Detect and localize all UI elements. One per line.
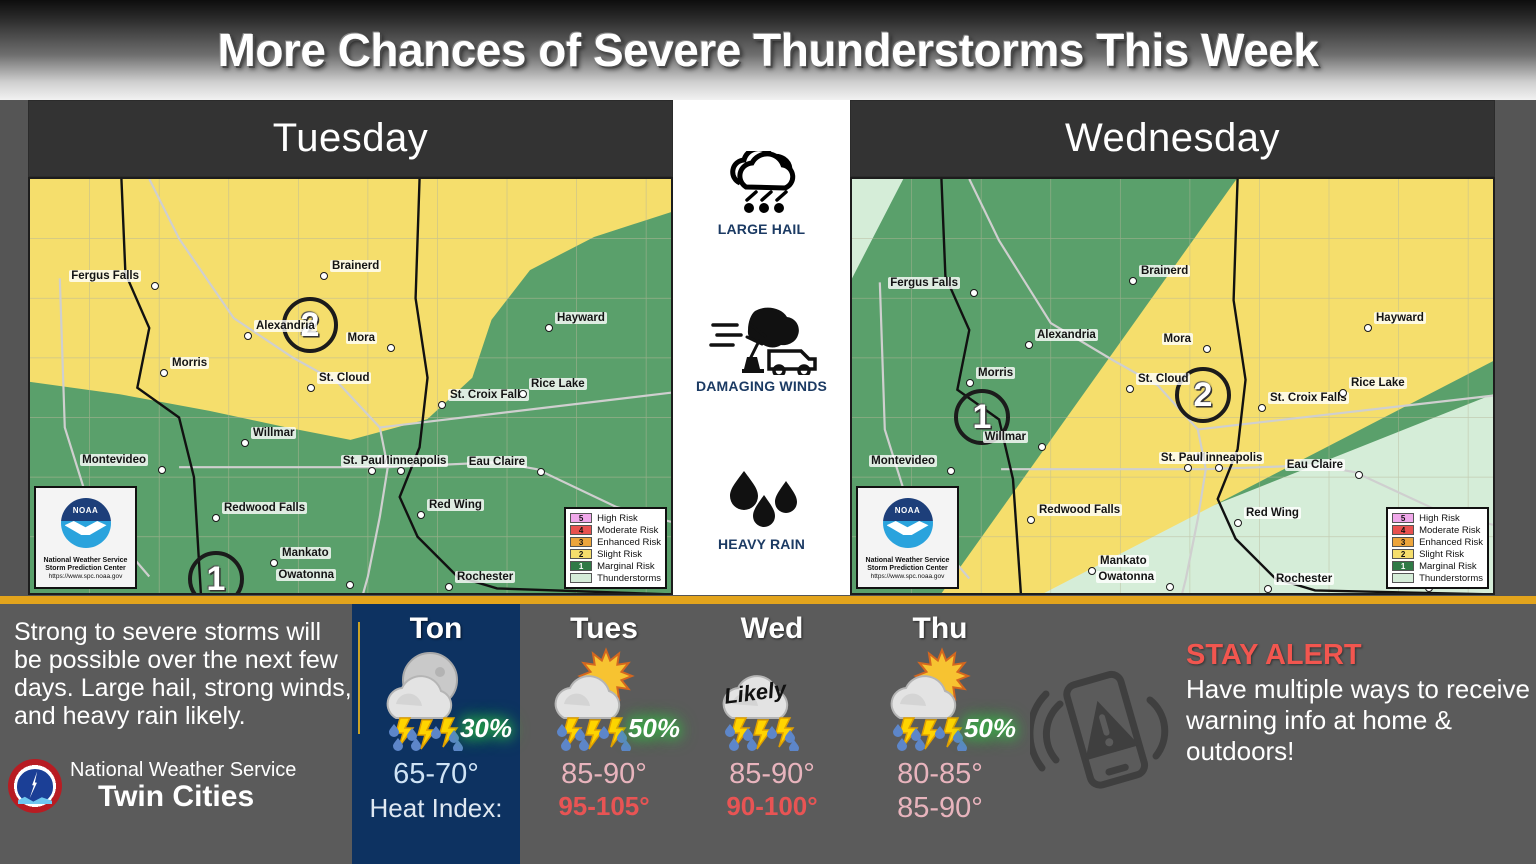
legend-label: Thunderstorms [1419,573,1483,584]
legend-swatch: 2 [570,549,592,559]
legend-swatch: 5 [1392,513,1414,523]
legend-row: 3Enhanced Risk [570,536,661,548]
city-label: Alexandria [254,320,317,332]
forecast-temperature: 65-70° [393,758,479,791]
forecast-temperature: 85-90° [729,758,815,791]
hazard-label: LARGE HAIL [718,221,806,237]
city-dot-icon [970,289,978,297]
legend-swatch: 3 [570,537,592,547]
city-label: St. Croix Falls [1268,392,1349,404]
city-dot-icon [1025,341,1033,349]
legend-label: Marginal Risk [597,561,655,572]
forecast-day-name: Thu [913,614,968,644]
city-label: Eau Claire [467,456,527,468]
narrative-block: Strong to severe storms will be possible… [14,618,354,730]
city-dot-icon [241,439,249,447]
forecast-icon-wrap: 30% [352,646,520,756]
legend-label: Thunderstorms [597,573,661,584]
risk-map-tuesday: 2 1 Fergus FallsBrainerdAlexandriaMoraHa… [28,177,673,595]
noaa-line1: National Weather Service [866,557,950,565]
legend-label: Enhanced Risk [1419,537,1483,548]
city-dot-icon [1339,389,1347,397]
legend-row: 5High Risk [570,512,661,524]
legend-swatch: 2 [1392,549,1414,559]
city-label: Mankato [1098,555,1149,567]
city-label: Montevideo [869,455,937,467]
city-label: Fergus Falls [888,277,960,289]
weather-graphic: More Chances of Severe Thunderstorms Thi… [0,0,1536,864]
city-dot-icon [519,390,527,398]
hazard-heavy-rain: HEAVY RAIN [716,464,808,552]
map-panel-wednesday: Wednesday [850,100,1495,595]
legend-label: Marginal Risk [1419,561,1477,572]
noaa-seal-icon: NOAA [877,492,939,554]
legend-row: 1Marginal Risk [1392,560,1483,572]
city-dot-icon [397,467,405,475]
phone-alert-icon [1030,656,1180,806]
city-label: St. Cloud [317,372,371,384]
legend-swatch [570,573,592,583]
city-label: St. Croix Falls [448,389,529,401]
city-label: Rochester [455,571,515,583]
city-dot-icon [151,282,159,290]
city-dot-icon [1126,385,1134,393]
city-dot-icon [438,401,446,409]
hail-cloud-icon [716,149,808,217]
city-label: Eau Claire [1285,459,1345,471]
day-label-wednesday: Wednesday [1065,116,1280,161]
city-label: Brainerd [1139,265,1190,277]
legend-label: Enhanced Risk [597,537,661,548]
city-dot-icon [966,379,974,387]
alert-heading: STAY ALERT [1186,640,1530,672]
forecast-icon-wrap: 50% [856,646,1024,756]
narrative-text: Strong to severe storms will be possible… [14,618,354,730]
forecast-column-wed: WedLikely85-90°90-100° [688,604,856,864]
city-label: St. Paul [1159,452,1205,464]
day-label-tuesday: Tuesday [273,116,428,161]
legend-swatch: 1 [570,561,592,571]
legend-label: Slight Risk [1419,549,1464,560]
legend-label: Moderate Risk [597,525,658,536]
city-dot-icon [368,467,376,475]
legend-row: 2Slight Risk [570,548,661,560]
raindrops-icon [716,464,808,532]
city-label: Mora [346,332,377,344]
hazard-large-hail: LARGE HAIL [716,149,808,237]
legend-label: High Risk [597,513,638,524]
legend-label: High Risk [1419,513,1460,524]
city-label: Redwood Falls [1037,504,1122,516]
noaa-seal-icon: NOAA [55,492,117,554]
city-label: Morris [976,367,1015,379]
legend-row: 2Slight Risk [1392,548,1483,560]
forecast-day-name: Tues [570,614,638,644]
legend-swatch [1392,573,1414,583]
city-label: Mankato [280,547,331,559]
city-dot-icon [417,511,425,519]
city-dot-icon [1088,567,1096,575]
city-label: Brainerd [330,260,381,272]
legend-label: Moderate Risk [1419,525,1480,536]
city-dot-icon [160,369,168,377]
city-label: Willmar [983,431,1028,443]
noaa-logo-box-wednesday: NOAA National Weather Service Storm Pred… [856,486,959,589]
city-label: Rochester [1274,573,1334,585]
city-label: Owatonna [1096,571,1156,583]
hazard-damaging-winds: DAMAGING WINDS [696,306,827,394]
legend-swatch: 4 [570,525,592,535]
noaa-logo-box-tuesday: NOAA National Weather Service Storm Pred… [34,486,137,589]
city-dot-icon [307,384,315,392]
legend-row: 4Moderate Risk [1392,524,1483,536]
city-label: St. Cloud [1136,373,1190,385]
forecast-day-name: Wed [741,614,804,644]
noaa-line2: Storm Prediction Center [44,565,128,573]
forecast-days: Ton30%65-70°Heat Index:Tues50%85-90°95-1… [352,604,1024,864]
city-dot-icon [947,467,955,475]
heat-index-label: Heat Index: [370,793,503,824]
city-dot-icon [1166,583,1174,591]
hazard-label: HEAVY RAIN [718,536,805,552]
city-label: Redwood Falls [222,502,307,514]
noaa-url: https://www.spc.noaa.gov [866,573,950,580]
city-dot-icon [1264,585,1272,593]
city-label: Rice Lake [529,378,587,390]
forecast-icon-wrap: Likely [688,646,856,756]
office-line2: Twin Cities [98,781,296,813]
forecast-heat-index: 90-100° [726,791,817,822]
city-dot-icon [1129,277,1137,285]
city-label: Alexandria [1035,329,1098,341]
city-dot-icon [445,583,453,591]
risk-map-wednesday: 1 2 Fergus FallsBrainerdAlexandriaMoraHa… [850,177,1495,595]
city-label: Hayward [1374,312,1426,324]
hazard-label: DAMAGING WINDS [696,378,827,394]
city-dot-icon [270,559,278,567]
city-dot-icon [1184,464,1192,472]
city-dot-icon [320,272,328,280]
city-dot-icon [1258,404,1266,412]
city-dot-icon [1038,443,1046,451]
spc-legend-wednesday: 5High Risk4Moderate Risk3Enhanced Risk2S… [1386,507,1489,589]
forecast-heat-index: 95-105° [558,791,649,822]
legend-swatch: 1 [1392,561,1414,571]
city-dot-icon [1203,345,1211,353]
legend-swatch: 5 [570,513,592,523]
legend-label: Slight Risk [597,549,642,560]
city-dot-icon [346,581,354,589]
page-title: More Chances of Severe Thunderstorms Thi… [218,23,1319,77]
city-dot-icon [1027,516,1035,524]
noaa-url: https://www.spc.noaa.gov [44,573,128,580]
gold-divider [0,596,1536,604]
city-label: Rice Lake [1349,377,1407,389]
wind-damage-icon [707,306,817,374]
legend-swatch: 4 [1392,525,1414,535]
forecast-column-ton: Ton30%65-70°Heat Index: [352,604,520,864]
city-label: Morris [170,357,209,369]
noaa-line2: Storm Prediction Center [866,565,950,573]
legend-row: 1Marginal Risk [570,560,661,572]
city-dot-icon [244,332,252,340]
city-dot-icon [1234,519,1242,527]
city-label: Mora [1162,333,1193,345]
city-label: Owatonna [276,569,336,581]
city-dot-icon [387,344,395,352]
city-label: Montevideo [80,454,148,466]
city-dot-icon [545,324,553,332]
spc-legend-tuesday: 5High Risk4Moderate Risk3Enhanced Risk2S… [564,507,667,589]
forecast-column-thu: Thu50%80-85°85-90° [856,604,1024,864]
city-label: Hayward [555,312,607,324]
legend-row: 3Enhanced Risk [1392,536,1483,548]
day-banner-wednesday: Wednesday [850,100,1495,177]
header-banner: More Chances of Severe Thunderstorms Thi… [0,0,1536,100]
map-panel-tuesday: Tuesday [28,100,673,595]
forecast-pop: 50% [628,713,680,744]
nws-office-brand: National Weather Service Twin Cities [8,759,358,813]
legend-row: 5High Risk [1392,512,1483,524]
city-dot-icon [158,466,166,474]
city-label: Willmar [251,427,296,439]
city-dot-icon [1355,471,1363,479]
legend-row: Thunderstorms [1392,572,1483,584]
noaa-line1: National Weather Service [44,557,128,565]
forecast-pop: 30% [460,713,512,744]
city-dot-icon [1215,464,1223,472]
nws-seal-icon [8,759,62,813]
city-label: Minneapolis [378,455,448,467]
city-dot-icon [537,468,545,476]
city-label: Red Wing [1244,507,1301,519]
forecast-day-name: Ton [410,614,463,644]
bottom-panel: Strong to severe storms will be possible… [0,604,1536,864]
forecast-column-tues: Tues50%85-90°95-105° [520,604,688,864]
legend-row: Thunderstorms [570,572,661,584]
forecast-icon-wrap: 50% [520,646,688,756]
forecast-heat-index: 85-90° [897,791,983,826]
stay-alert-block: STAY ALERT Have multiple ways to receive… [1030,640,1530,840]
legend-swatch: 3 [1392,537,1414,547]
forecast-temperature: 80-85° [897,758,983,791]
city-dot-icon [212,514,220,522]
city-label: Fergus Falls [69,270,141,282]
legend-row: 4Moderate Risk [570,524,661,536]
city-label: St. Paul [341,455,387,467]
hazard-column: LARGE HAIL DAMA [673,100,850,595]
office-line1: National Weather Service [70,760,296,781]
city-label: Red Wing [427,499,484,511]
forecast-temperature: 85-90° [561,758,647,791]
forecast-pop: 50% [964,713,1016,744]
alert-body: Have multiple ways to receive warning in… [1186,674,1530,768]
city-dot-icon [1364,324,1372,332]
day-banner-tuesday: Tuesday [28,100,673,177]
